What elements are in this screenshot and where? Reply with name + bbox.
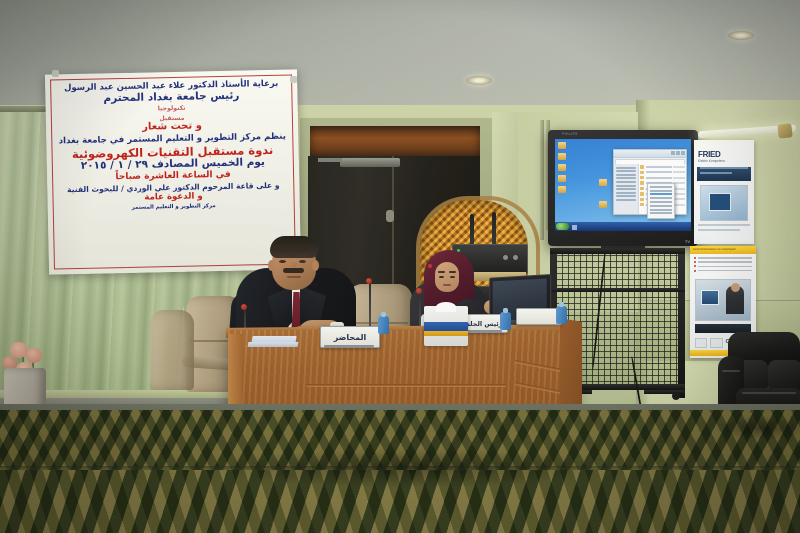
door-transom: [310, 126, 480, 156]
speaker-moustache: [283, 268, 304, 273]
poster-bullet: [694, 257, 752, 259]
speaker-eye: [299, 260, 306, 263]
volume-knob[interactable]: [513, 255, 518, 260]
desktop-icon-selected[interactable]: [599, 179, 607, 186]
conference-room-photo: برعاية الأستاذ الدكتور علاء عبد الحسين ع…: [0, 0, 800, 533]
file-row[interactable]: [640, 170, 685, 174]
nameplate-stand: [324, 345, 374, 348]
context-menu-item[interactable]: [650, 205, 672, 207]
sofa-shadow: [712, 416, 800, 440]
poster-photo: [695, 279, 751, 321]
rack-frame-bar: [678, 248, 685, 398]
microphone-head: [241, 304, 247, 310]
desktop-icon[interactable]: [599, 201, 607, 208]
podium-groove: [306, 384, 506, 387]
speaker-ear: [312, 260, 319, 271]
water-bottle[interactable]: [378, 316, 389, 334]
tissue-box[interactable]: [424, 306, 468, 346]
poster-monitor-icon: [701, 290, 719, 305]
context-menu-item[interactable]: [650, 209, 672, 211]
microphone-head: [366, 278, 372, 284]
poster-header-strip: Sicherheitshinweise zum Arbeitsplatz: [690, 246, 756, 254]
desktop-icon[interactable]: [558, 186, 566, 193]
poster-bullet: [694, 270, 752, 272]
context-menu-item[interactable]: [650, 212, 672, 214]
flower-bloom: [26, 348, 42, 363]
tv-logo: TV: [685, 239, 690, 244]
desktop-icon[interactable]: [558, 142, 566, 149]
start-button[interactable]: [556, 223, 569, 230]
speaker-ear: [268, 260, 275, 271]
water-bottle[interactable]: [500, 312, 511, 330]
nameplate-speaker-text: المحاضر: [334, 333, 367, 342]
sofa-highlight: [742, 392, 796, 394]
microphone-gooseneck: [369, 282, 371, 332]
taskbar-button[interactable]: [572, 225, 577, 230]
ceiling-downlight: [466, 76, 492, 85]
context-menu-item[interactable]: [650, 186, 672, 188]
poster-bullet: [694, 261, 752, 263]
poster-header-bar: [697, 167, 751, 181]
assistant-mouth: [443, 284, 451, 286]
assistant-eyebrow: [449, 271, 456, 273]
window-titlebar[interactable]: [614, 150, 686, 158]
door-closer: [340, 158, 400, 167]
water-bottle[interactable]: [556, 306, 567, 324]
podium-shadow: [210, 448, 610, 488]
tv-brand-label: PHILIPS: [562, 132, 578, 136]
flat-panel-tv[interactable]: PHILIPS: [548, 130, 698, 246]
context-menu-item-highlighted[interactable]: [650, 193, 672, 195]
wall-conduit: [540, 120, 544, 240]
banner-line-10: مركز التطوير و التعليم المستمر: [58, 203, 290, 214]
rack-caster: [672, 392, 680, 400]
poster-text-line: [698, 229, 740, 231]
certification-logo: [695, 338, 707, 348]
event-banner: برعاية الأستاذ الدكتور علاء عبد الحسين ع…: [45, 69, 301, 274]
assistant-eyebrow: [438, 271, 445, 273]
door-closer-arm: [318, 158, 342, 162]
banner-clip: [290, 76, 297, 83]
speaker-mouth: [287, 276, 301, 278]
wall-poster-top: FRIED Elektro Kompetenz: [694, 140, 754, 244]
chair-backrest: [150, 310, 194, 390]
file-row[interactable]: [640, 176, 685, 180]
file-row[interactable]: [640, 165, 685, 169]
speaker-eyebrow: [277, 254, 288, 257]
rack-frame-bar: [550, 288, 685, 292]
assistant-hijab-pin: [428, 264, 432, 268]
poster-image: [700, 185, 748, 221]
banner-clip: [52, 70, 59, 77]
banner-text-block: برعاية الأستاذ الدكتور علاء عبد الحسين ع…: [55, 78, 291, 269]
sofa-highlight: [722, 370, 740, 372]
tissue-box-band-accent: [424, 331, 468, 336]
microphone-head: [416, 288, 422, 294]
light-bracket: [777, 123, 792, 138]
door-handle[interactable]: [386, 210, 394, 222]
tv-screen[interactable]: [555, 139, 691, 231]
tissue-box-band: [424, 322, 468, 331]
desktop-icon[interactable]: [558, 153, 566, 160]
window-controls[interactable]: [671, 151, 685, 155]
speaker-eye: [279, 260, 286, 263]
tissue-sheet: [436, 302, 456, 312]
poster-header-text: Sicherheitshinweise zum Arbeitsplatz: [690, 246, 756, 252]
context-menu-item[interactable]: [650, 190, 672, 192]
poster-text-line: [698, 224, 750, 226]
ceiling-downlight: [728, 31, 754, 40]
poster-person-head: [731, 283, 740, 292]
speaker-eyebrow: [297, 254, 308, 257]
context-menu-item[interactable]: [650, 197, 672, 199]
context-menu-item[interactable]: [650, 201, 672, 203]
poster-brand: FRIED: [694, 140, 754, 159]
speaker-papers-stack: [248, 342, 299, 347]
navigation-pane[interactable]: [614, 164, 639, 214]
poster-subtitle: Elektro Kompetenz: [694, 159, 754, 163]
taskbar[interactable]: [555, 222, 691, 231]
volume-knob[interactable]: [503, 255, 508, 260]
desktop-icon[interactable]: [558, 175, 566, 182]
context-menu[interactable]: [647, 183, 675, 219]
poster-bullet-list: [690, 254, 756, 277]
poster-bullet: [694, 265, 752, 267]
desktop-icon[interactable]: [558, 164, 566, 171]
speaker-nose: [291, 258, 297, 267]
rack-frame-bar: [550, 248, 685, 254]
